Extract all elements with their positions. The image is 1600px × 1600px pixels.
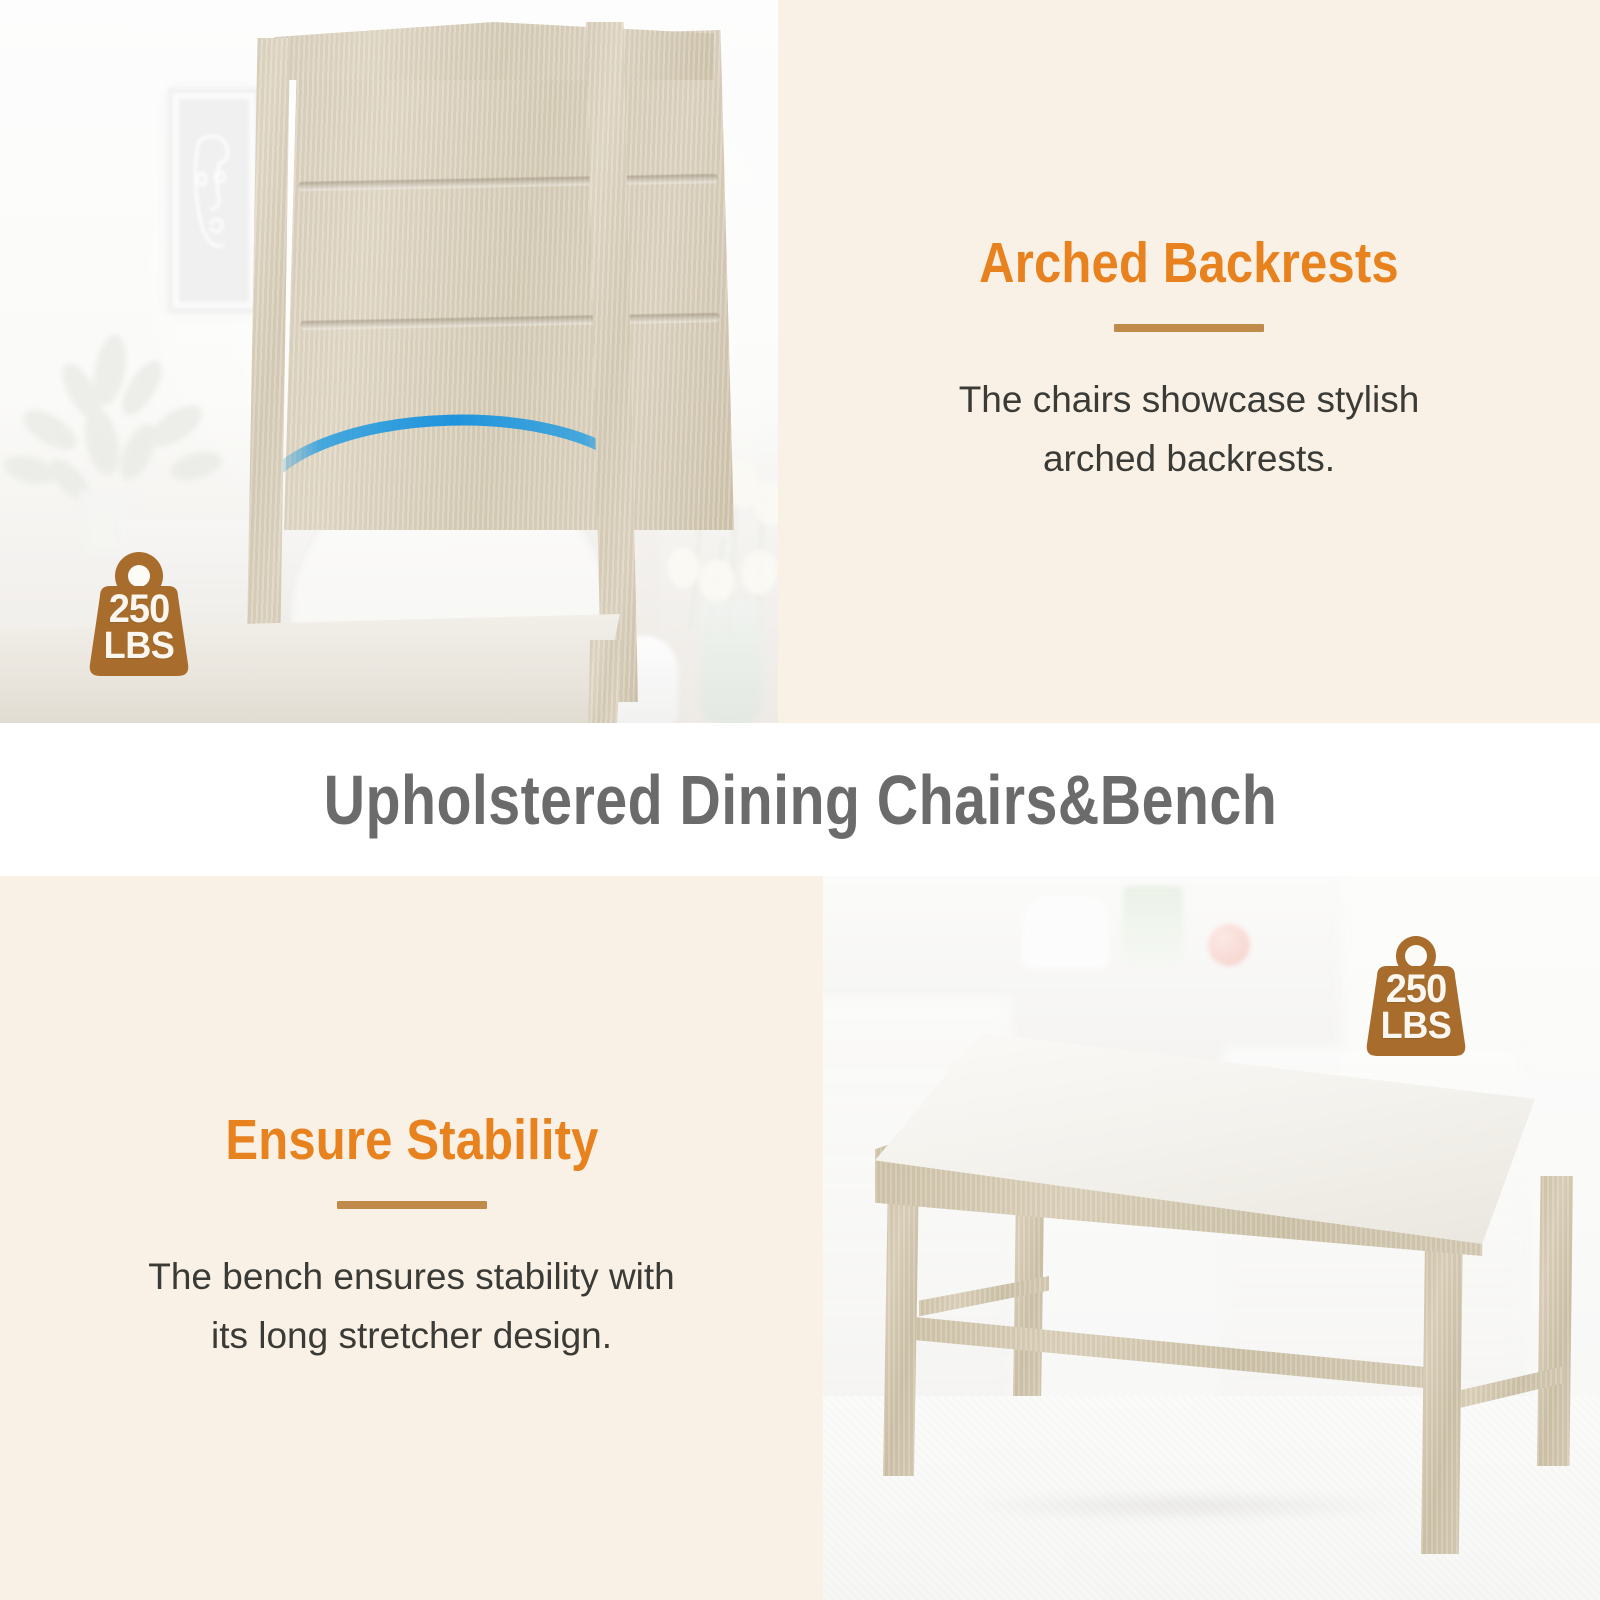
bench-front-right-leg [1421, 1224, 1463, 1554]
top-section: 250 LBS Arched Backrests The chairs show… [0, 0, 1600, 723]
title-divider [1114, 324, 1264, 332]
bench-back-right-leg [1537, 1176, 1573, 1466]
background-vase [1123, 886, 1183, 966]
page-title: Upholstered Dining Chairs&Bench [323, 760, 1277, 840]
chair-front-leg [588, 640, 622, 723]
feature-panel-ensure-stability: Ensure Stability The bench ensures stabi… [0, 876, 823, 1600]
badge-text: 250 LBS [78, 590, 200, 665]
feature-body-ensure-stability: The bench ensures stability with its lon… [148, 1247, 675, 1365]
bench-front-left-leg [883, 1176, 919, 1476]
chair-left-stile [246, 38, 290, 698]
chair-back-panel [284, 30, 734, 530]
feature-title-ensure-stability: Ensure Stability [225, 1111, 598, 1171]
status-badge: 250 LBS [1355, 928, 1477, 1060]
feature-body-line-2: arched backrests. [1043, 438, 1335, 479]
feature-panel-arched-backrests: Arched Backrests The chairs showcase sty… [778, 0, 1600, 723]
title-divider [337, 1201, 487, 1209]
background-fruit [1208, 924, 1250, 966]
center-banner: Upholstered Dining Chairs&Bench [0, 723, 1600, 876]
bench-shadow [863, 1486, 1503, 1526]
product-infographic: 250 LBS Arched Backrests The chairs show… [0, 0, 1600, 1600]
badge-number: 250 [1358, 970, 1474, 1008]
status-badge: 250 LBS [78, 548, 200, 680]
background-kettle [1023, 896, 1109, 968]
feature-body-line-1: The bench ensures stability with [148, 1256, 675, 1297]
feature-body-arched-backrests: The chairs showcase stylish arched backr… [959, 370, 1420, 488]
bench-photo [823, 876, 1600, 1600]
chair-photo: 250 LBS [0, 0, 778, 723]
feature-title-arched-backrests: Arched Backrests [979, 234, 1399, 294]
chair-crest-rail [274, 22, 714, 80]
badge-unit: LBS [81, 628, 197, 664]
feature-body-line-2: its long stretcher design. [211, 1315, 612, 1356]
badge-number: 250 [81, 590, 197, 628]
badge-unit: LBS [1358, 1008, 1474, 1044]
feature-body-line-1: The chairs showcase stylish [959, 379, 1420, 420]
badge-text: 250 LBS [1355, 970, 1477, 1045]
